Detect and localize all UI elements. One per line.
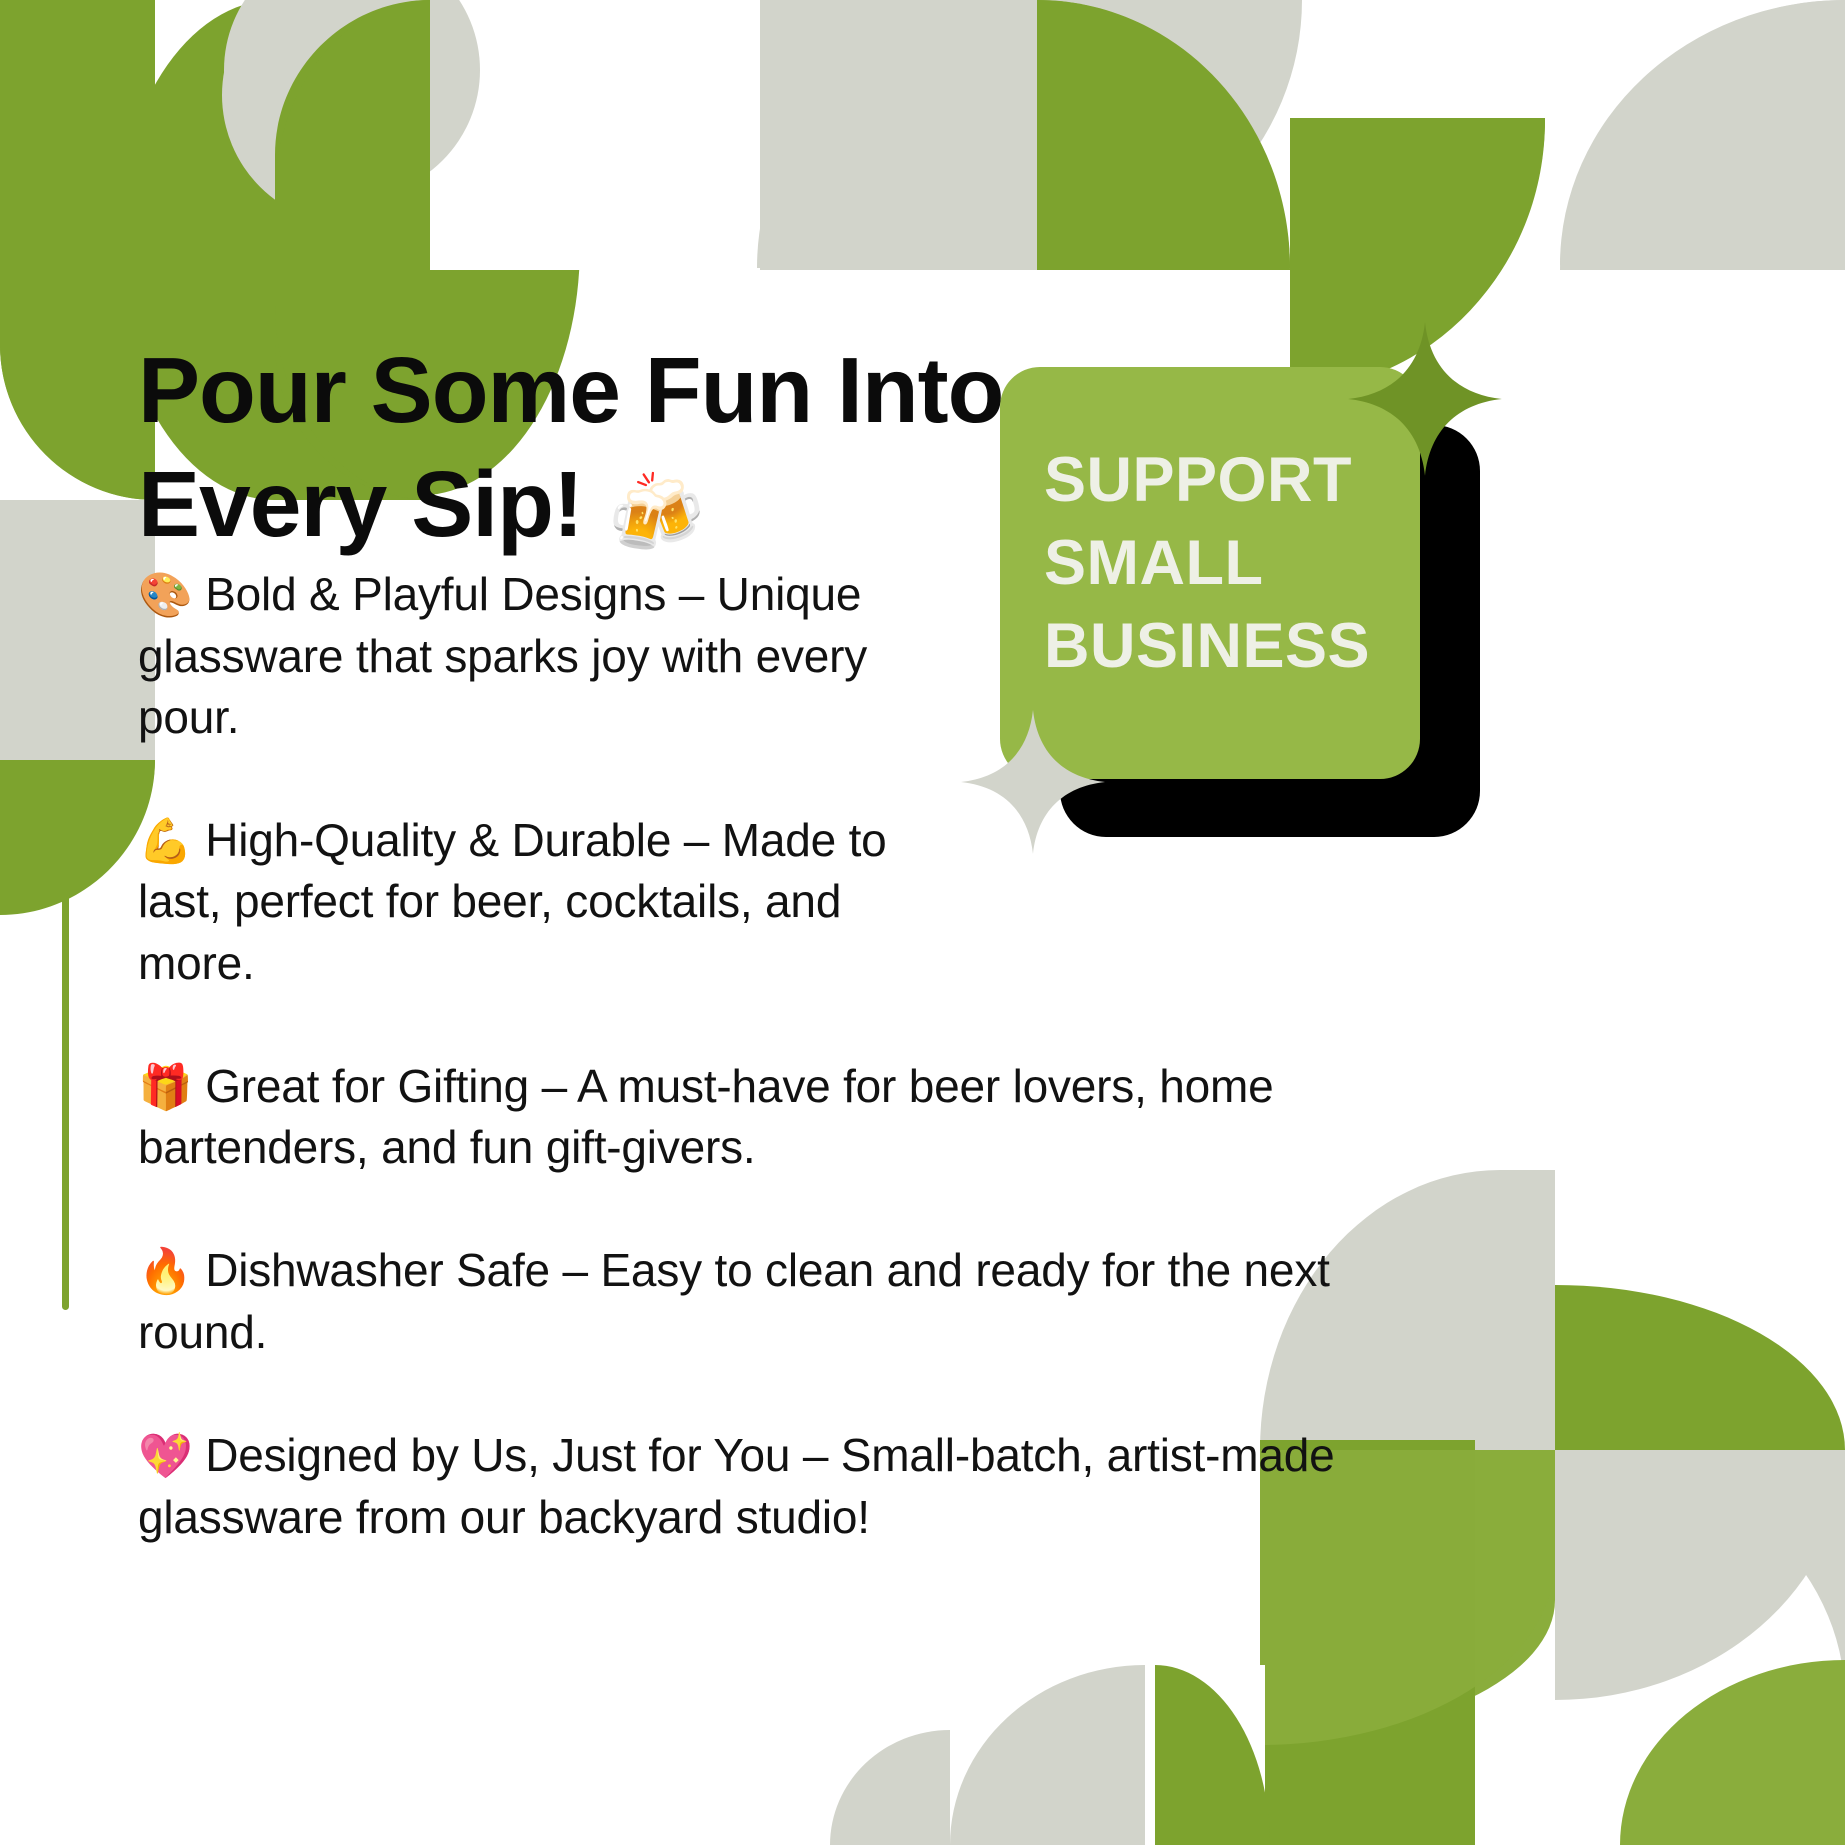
feature-text: Great for Gifting – A must-have for beer… (138, 1060, 1274, 1174)
feature-item: 🔥 Dishwasher Safe – Easy to clean and re… (138, 1240, 1458, 1363)
badge-line-1: SUPPORT (1044, 445, 1352, 515)
feature-text: Designed by Us, Just for You – Small-bat… (138, 1429, 1335, 1543)
badge-label: SUPPORT SMALL BUSINESS (1044, 439, 1394, 688)
sparkling-heart-emoji: 💖 (138, 1432, 193, 1481)
feature-item: 💖 Designed by Us, Just for You – Small-b… (138, 1425, 1458, 1548)
sparkle-icon-top-right (1345, 319, 1505, 479)
badge-line-2: SMALL (1044, 528, 1263, 598)
poster-canvas: Pour Some Fun Into Every Sip! 🍻 🎨 Bold &… (0, 0, 1845, 1845)
flexed-biceps-emoji: 💪 (138, 817, 193, 866)
feature-text: Bold & Playful Designs – Unique glasswar… (138, 568, 867, 743)
fire-emoji: 🔥 (138, 1247, 193, 1296)
wrapped-gift-emoji: 🎁 (138, 1063, 193, 1112)
artist-palette-emoji: 🎨 (138, 571, 193, 620)
content-layer: Pour Some Fun Into Every Sip! 🍻 🎨 Bold &… (0, 0, 1845, 1845)
feature-text: High-Quality & Durable – Made to last, p… (138, 814, 887, 989)
feature-text: Dishwasher Safe – Easy to clean and read… (138, 1244, 1330, 1358)
sparkle-icon-bottom-left (958, 707, 1108, 857)
feature-item: 💪 High-Quality & Durable – Made to last,… (138, 810, 948, 994)
feature-item: 🎨 Bold & Playful Designs – Unique glassw… (138, 564, 948, 748)
feature-item: 🎁 Great for Gifting – A must-have for be… (138, 1056, 1458, 1179)
support-small-business-badge: SUPPORT SMALL BUSINESS (1000, 367, 1480, 837)
badge-line-3: BUSINESS (1044, 611, 1370, 681)
headline-line-1: Pour Some Fun Into (138, 338, 1003, 442)
